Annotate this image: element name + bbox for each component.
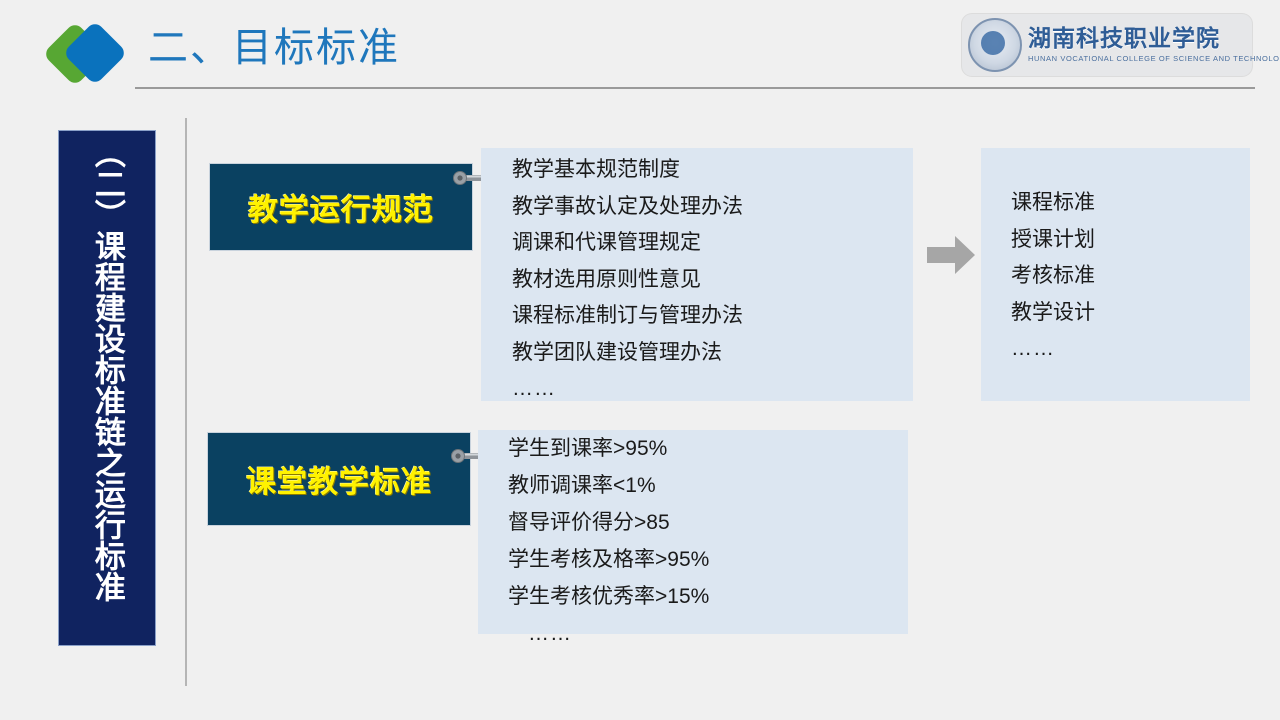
list-item: 课程标准制订与管理办法: [512, 305, 743, 326]
row-detail-list: 学生到课率>95% 教师调课率<1% 督导评价得分>85 学生考核及格率>95%…: [508, 438, 709, 660]
content-divider: [185, 118, 187, 686]
list-item-ellipsis: ……: [1011, 338, 1095, 359]
list-item-ellipsis: ……: [512, 378, 743, 399]
list-item: 教学团队建设管理办法: [512, 342, 743, 363]
output-panel-list: 课程标准 授课计划 考核标准 教学设计 ……: [1011, 192, 1095, 375]
row-title-box-teaching-operation-norms[interactable]: 教学运行规范: [209, 163, 473, 251]
row-detail-box-teaching-operation-norms: 教学基本规范制度 教学事故认定及处理办法 调课和代课管理规定 教材选用原则性意见…: [481, 148, 913, 401]
slide-canvas: 二、目标标准 湖南科技职业学院 HUNAN VOCATIONAL COLLEGE…: [0, 0, 1280, 720]
section-label-panel: （二）课程建设标准链之运行标准: [58, 130, 156, 646]
overlapping-diamonds-logo-icon: [50, 22, 128, 88]
row-detail-list: 教学基本规范制度 教学事故认定及处理办法 调课和代课管理规定 教材选用原则性意见…: [512, 159, 743, 415]
school-logo: 湖南科技职业学院 HUNAN VOCATIONAL COLLEGE OF SCI…: [962, 14, 1252, 76]
row-title-label: 教学运行规范: [248, 185, 434, 229]
list-item: 学生考核及格率>95%: [508, 549, 709, 570]
row-detail-box-classroom-teaching-standard: 学生到课率>95% 教师调课率<1% 督导评价得分>85 学生考核及格率>95%…: [478, 430, 908, 634]
list-item: 考核标准: [1011, 265, 1095, 286]
school-logo-text: 湖南科技职业学院 HUNAN VOCATIONAL COLLEGE OF SCI…: [1028, 27, 1280, 62]
header-divider-rule: [135, 87, 1255, 89]
university-seal-icon: [968, 18, 1022, 72]
list-item: 教学基本规范制度: [512, 159, 743, 180]
school-name-en: HUNAN VOCATIONAL COLLEGE OF SCIENCE AND …: [1028, 54, 1280, 63]
list-item: 教学事故认定及处理办法: [512, 196, 743, 217]
list-item: 教师调课率<1%: [508, 475, 709, 496]
right-arrow-icon: [925, 233, 977, 277]
list-item-ellipsis: ……: [508, 623, 709, 644]
list-item: 调课和代课管理规定: [512, 232, 743, 253]
output-panel-box: 课程标准 授课计划 考核标准 教学设计 ……: [981, 148, 1250, 401]
list-item: 教材选用原则性意见: [512, 269, 743, 290]
list-item: 授课计划: [1011, 229, 1095, 250]
row-title-box-classroom-teaching-standard[interactable]: 课堂教学标准: [207, 432, 471, 526]
row-title-label: 课堂教学标准: [246, 457, 432, 501]
page-title: 二、目标标准: [148, 24, 400, 72]
school-name-cn: 湖南科技职业学院: [1028, 27, 1280, 51]
list-item: 学生到课率>95%: [508, 438, 709, 459]
list-item: 学生考核优秀率>15%: [508, 586, 709, 607]
section-label-text: （二）课程建设标准链之运行标准: [90, 137, 124, 602]
list-item: 教学设计: [1011, 302, 1095, 323]
list-item: 课程标准: [1011, 192, 1095, 213]
list-item: 督导评价得分>85: [508, 512, 709, 533]
